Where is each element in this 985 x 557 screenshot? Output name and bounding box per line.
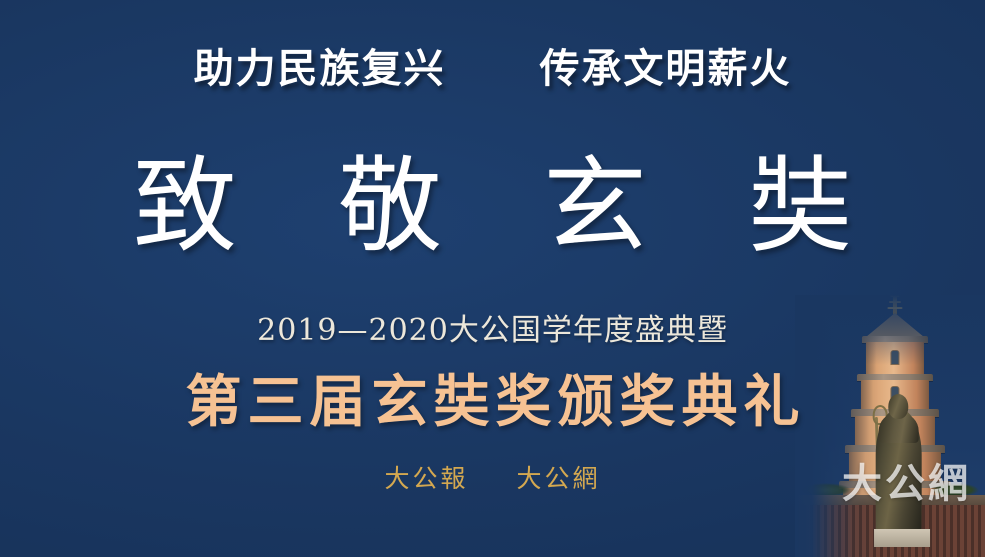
- tagline-left: 助力民族复兴: [194, 46, 446, 92]
- tagline-right: 传承文明薪火: [539, 46, 791, 92]
- event-title: 第三届玄奘奖颁奖典礼: [0, 357, 985, 438]
- brand-website: 大公網: [516, 459, 600, 495]
- poster-content: 助力民族复兴 传承文明薪火 致 敬 玄 奘 2019—2020大公国学年度盛典暨…: [0, 0, 985, 557]
- event-subtitle: 2019—2020大公国学年度盛典暨: [0, 305, 985, 349]
- tagline-row: 助力民族复兴 传承文明薪火: [0, 36, 985, 94]
- brand-newspaper: 大公報: [385, 459, 469, 495]
- brand-row: 大公報 大公網: [0, 459, 985, 495]
- poster-canvas: 大公網 助力民族复兴 传承文明薪火 致 敬 玄 奘 2019—2020大公国学年…: [0, 0, 985, 557]
- page-title: 致 敬 玄 奘: [0, 152, 985, 261]
